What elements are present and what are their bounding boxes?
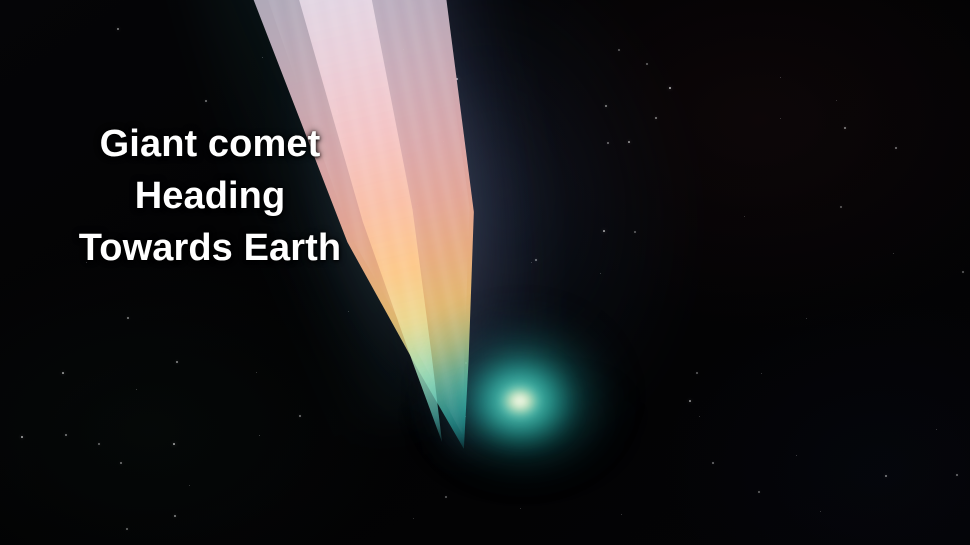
comet-photograph: Giant comet Heading Towards Earth <box>0 0 970 545</box>
headline-line-3: Towards Earth <box>40 222 380 274</box>
headline-overlay: Giant comet Heading Towards Earth <box>40 118 380 274</box>
headline-line-1: Giant comet <box>40 118 380 170</box>
headline-line-2: Heading <box>40 170 380 222</box>
